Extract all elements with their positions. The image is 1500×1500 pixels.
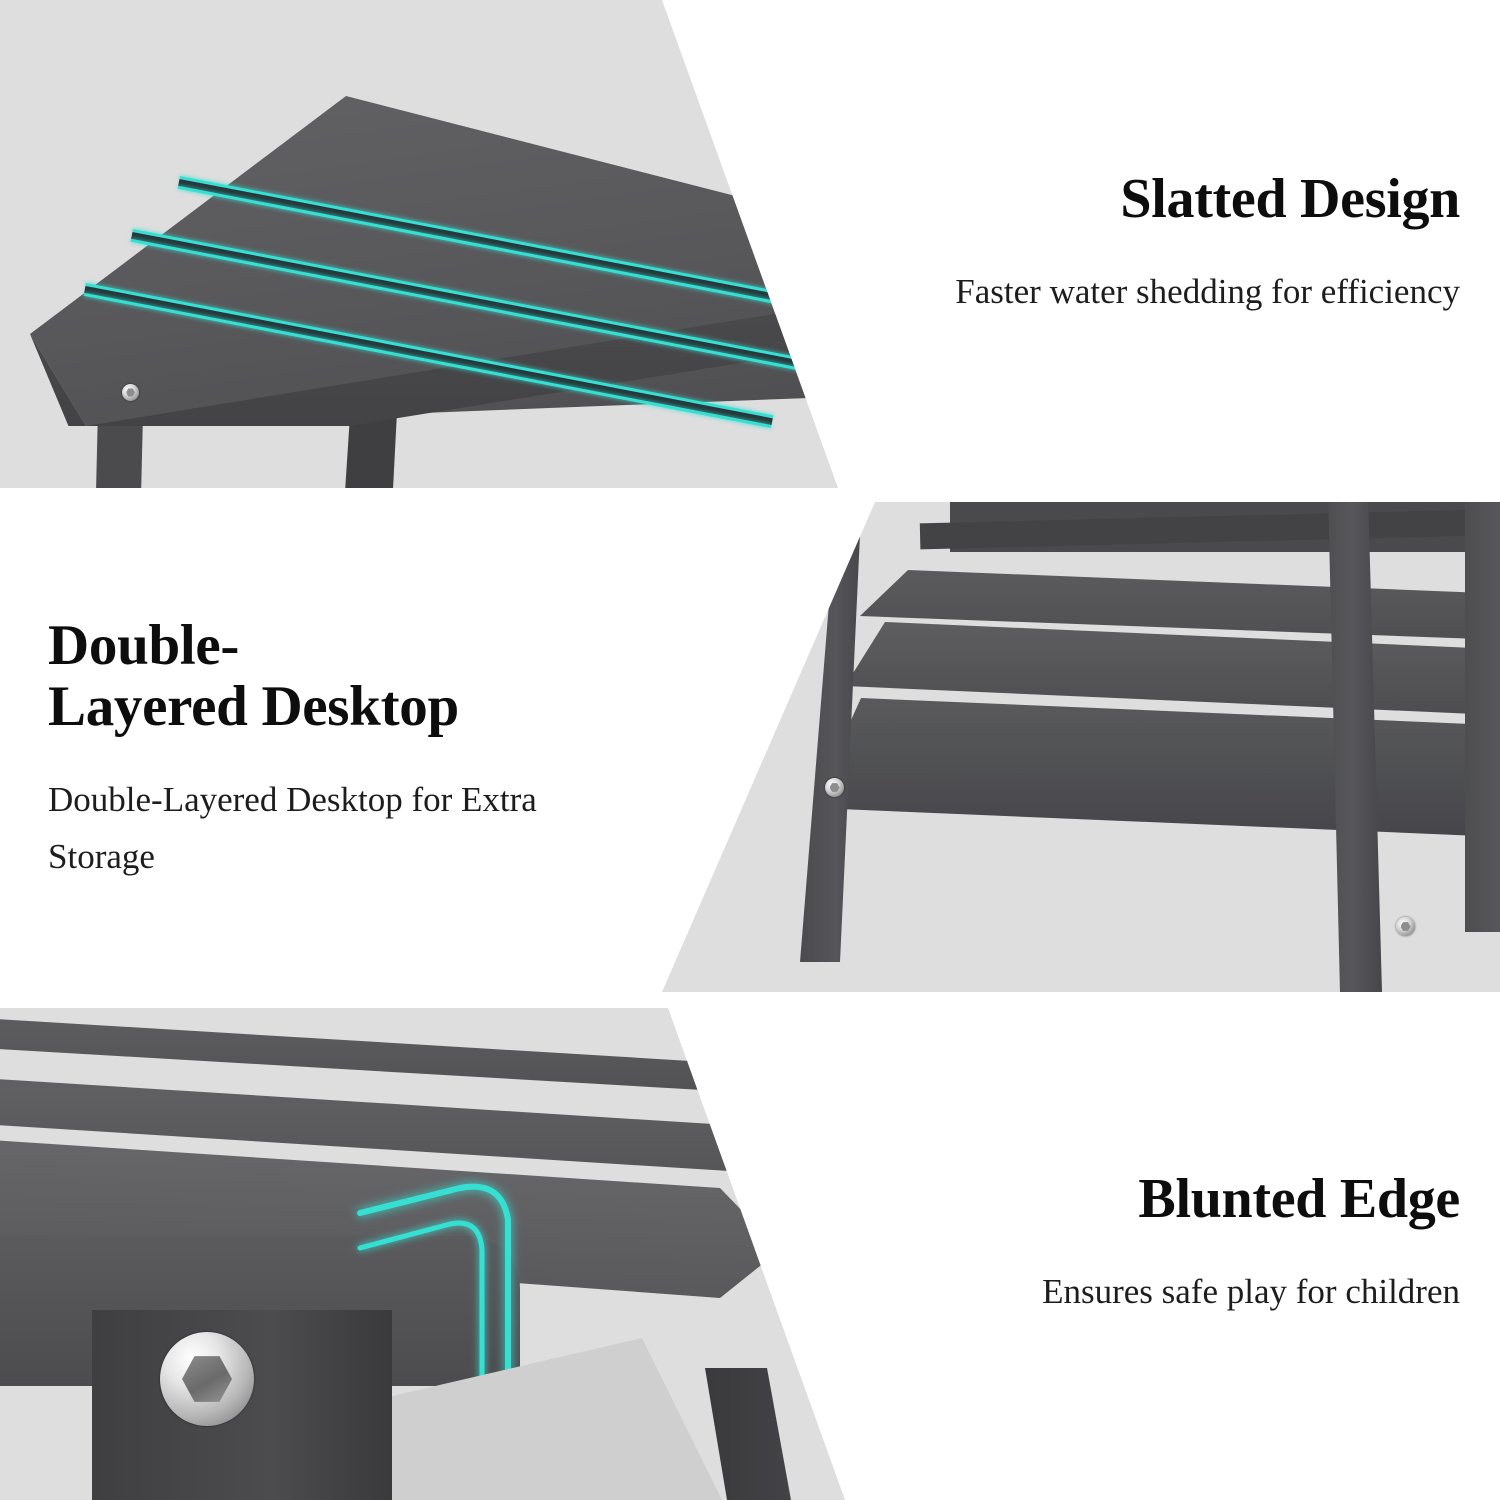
feature-title-double-layered: Double- Layered Desktop [48,615,459,738]
feature-description-slatted: Faster water shedding for efficiency [955,264,1460,321]
feature-title-line-1: Double- [48,614,239,677]
photo-rounded-corner [0,1008,845,1500]
screw-icon [122,384,139,401]
screw-icon [825,778,844,797]
feature-title-line-2: Layered Desktop [48,675,459,738]
feature-title-blunted-edge: Blunted Edge [1138,1169,1460,1229]
screw-icon [1396,917,1415,936]
infographic-board: Slatted Design Faster water shedding for… [0,0,1500,1500]
photo-lower-shelf [620,502,1500,992]
hex-bolt-icon [160,1332,254,1426]
feature-description-blunted-edge: Ensures safe play for children [1042,1264,1460,1321]
feature-description-double-layered: Double-Layered Desktop for Extra Storage [48,772,628,885]
feature-text-double-layered: Double- Layered Desktop Double-Layered D… [48,585,628,915]
table-leg-far-right [1465,502,1500,932]
feature-title-slatted: Slatted Design [1120,169,1460,229]
photo-tabletop-slats [0,0,840,488]
feature-text-slatted: Slatted Design Faster water shedding for… [920,90,1460,400]
feature-text-blunted-edge: Blunted Edge Ensures safe play for child… [940,1095,1460,1395]
